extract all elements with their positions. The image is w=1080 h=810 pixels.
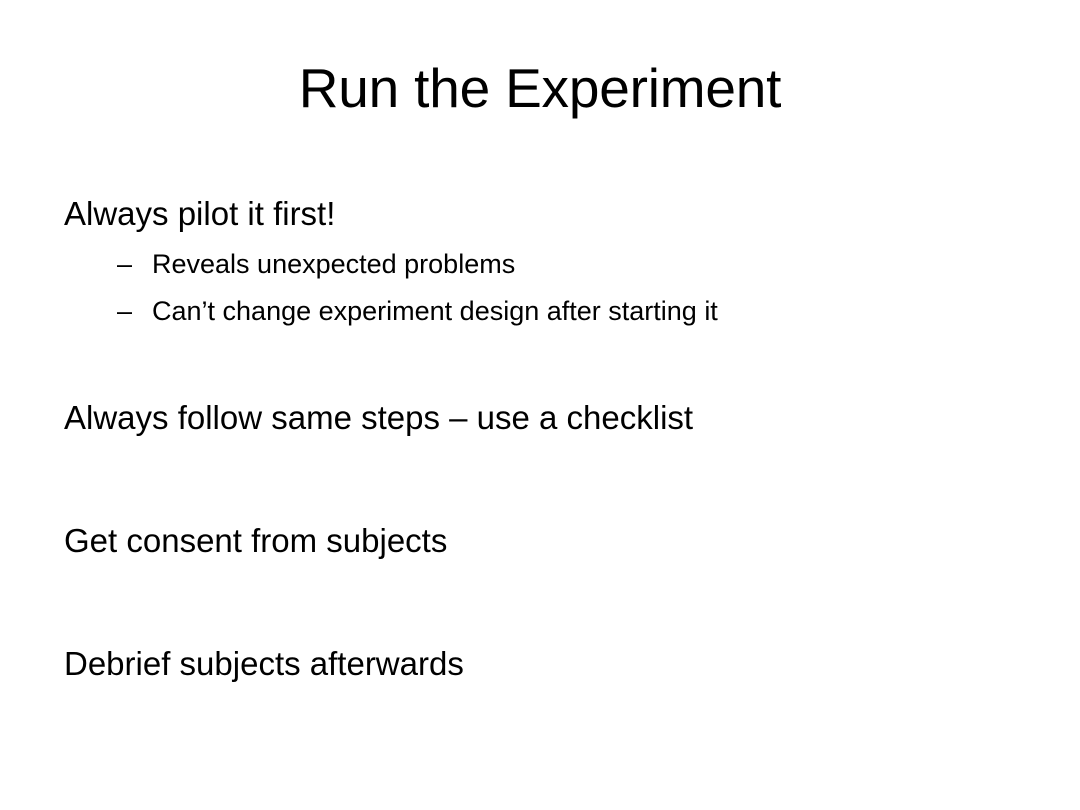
bullet-level2-cant-change-design: – Can’t change experiment design after s… bbox=[117, 294, 1024, 328]
slide-body-content: Always pilot it first! – Reveals unexpec… bbox=[64, 193, 1024, 684]
spacer bbox=[64, 328, 1024, 397]
spacer bbox=[64, 281, 1024, 294]
bullet-text: Get consent from subjects bbox=[64, 522, 447, 559]
bullet-level1-always-pilot: Always pilot it first! bbox=[64, 193, 1024, 234]
bullet-level1-get-consent: Get consent from subjects bbox=[64, 520, 1024, 561]
spacer bbox=[64, 438, 1024, 479]
spacer bbox=[64, 602, 1024, 643]
bullet-level2-reveals-problems: – Reveals unexpected problems bbox=[117, 247, 1024, 281]
bullet-text: Reveals unexpected problems bbox=[152, 249, 515, 279]
bullet-text: Always pilot it first! bbox=[64, 195, 335, 232]
bullet-level1-follow-same-steps: Always follow same steps – use a checkli… bbox=[64, 397, 1024, 438]
bullet-text: Can’t change experiment design after sta… bbox=[152, 296, 718, 326]
bullet-text: Debrief subjects afterwards bbox=[64, 645, 464, 682]
spacer bbox=[64, 234, 1024, 247]
spacer bbox=[64, 479, 1024, 520]
spacer bbox=[64, 561, 1024, 602]
bullet-text: Always follow same steps – use a checkli… bbox=[64, 399, 693, 436]
en-dash-marker-icon: – bbox=[117, 294, 141, 328]
en-dash-marker-icon: – bbox=[117, 247, 141, 281]
slide-title: Run the Experiment bbox=[0, 58, 1080, 119]
presentation-slide: Run the Experiment Always pilot it first… bbox=[0, 0, 1080, 810]
bullet-level1-debrief-subjects: Debrief subjects afterwards bbox=[64, 643, 1024, 684]
